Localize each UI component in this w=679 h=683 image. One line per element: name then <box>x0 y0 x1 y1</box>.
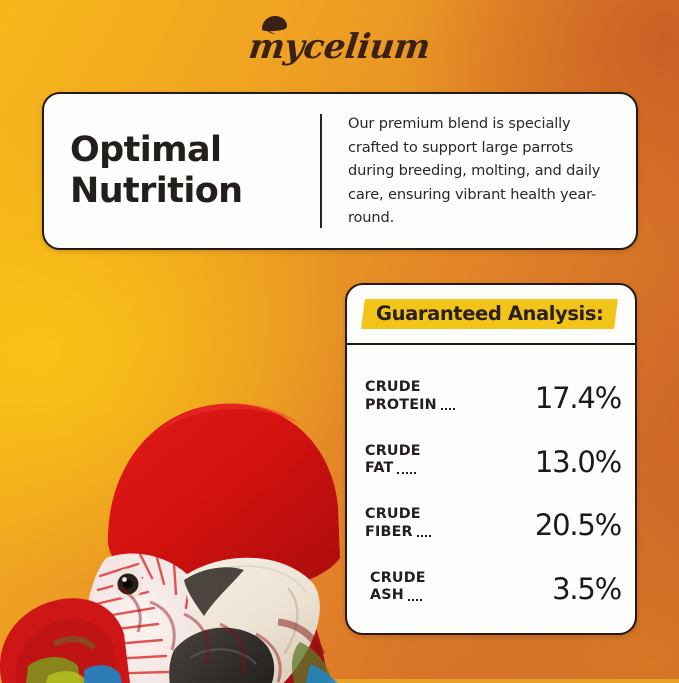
analysis-header: Guaranteed Analysis: <box>347 285 635 345</box>
analysis-heading-highlight: Guaranteed Analysis: <box>363 299 616 329</box>
analysis-label-name: PROTEIN <box>365 397 437 415</box>
analysis-label-top: CRUDE <box>365 506 436 524</box>
analysis-label-name: FIBER <box>365 524 413 542</box>
analysis-label-top: CRUDE <box>365 570 427 588</box>
page-title-line-1: Optimal <box>70 130 243 171</box>
brand-logo: mycelium <box>0 22 679 72</box>
leader-dots <box>408 599 422 601</box>
analysis-row-fat: CRUDE FAT 13.0% <box>365 443 621 478</box>
leader-dots <box>417 535 431 537</box>
leader-dots <box>397 472 415 474</box>
analysis-row-protein: CRUDE PROTEIN 17.4% <box>365 379 621 414</box>
optimal-nutrition-card: Optimal Nutrition Our premium blend is s… <box>42 92 638 250</box>
brand-name: mycelium <box>247 27 433 67</box>
leader-dots <box>441 408 455 410</box>
analysis-value: 20.5% <box>535 511 621 541</box>
analysis-label-top: CRUDE <box>365 379 460 397</box>
analysis-label-name: ASH <box>370 587 404 605</box>
analysis-row-ash: CRUDE ASH 3.5% <box>365 570 621 605</box>
analysis-value: 3.5% <box>552 575 621 605</box>
analysis-value: 17.4% <box>535 384 621 414</box>
guaranteed-analysis-card: Guaranteed Analysis: CRUDE PROTEIN 17.4%… <box>345 283 637 635</box>
page-title: Optimal Nutrition <box>70 110 320 232</box>
parrot-image <box>0 258 348 683</box>
page-title-line-2: Nutrition <box>70 171 243 212</box>
analysis-value: 13.0% <box>535 448 621 478</box>
vertical-divider <box>320 114 322 228</box>
analysis-label-name: FAT <box>365 460 393 478</box>
analysis-rows: CRUDE PROTEIN 17.4% CRUDE FAT 13.0% CRUD… <box>347 345 635 633</box>
nutrition-description: Our premium blend is specially crafted t… <box>348 110 614 232</box>
analysis-row-fiber: CRUDE FIBER 20.5% <box>365 506 621 541</box>
analysis-heading: Guaranteed Analysis: <box>376 302 603 325</box>
analysis-label-top: CRUDE <box>365 443 421 461</box>
